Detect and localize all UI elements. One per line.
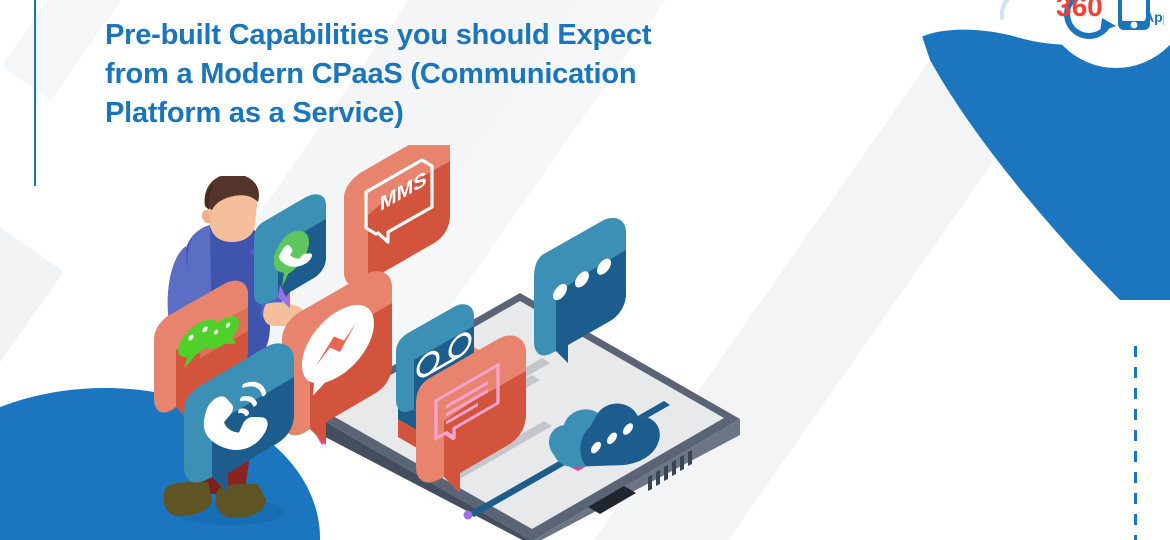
- headline-line-1: Pre-built Capabilities you should Expect: [105, 16, 825, 55]
- headline-line-2: from a Modern CPaaS (Communication: [105, 55, 825, 94]
- brand-logo[interactable]: 360 App: [994, 0, 1164, 40]
- svg-text:App: App: [1144, 9, 1164, 25]
- isometric-cpaas-illustration: MMS: [150, 145, 810, 540]
- page-title: Pre-built Capabilities you should Expect…: [105, 16, 825, 133]
- banner-canvas: Pre-built Capabilities you should Expect…: [0, 0, 1170, 540]
- headline-line-3: Platform as a Service): [105, 94, 825, 133]
- top-right-blue-wave: [920, 0, 1170, 300]
- bubble-whatsapp: [254, 194, 326, 308]
- bubble-mms: MMS: [344, 145, 450, 293]
- diagonal-stripe: [0, 0, 38, 453]
- svg-text:360: 360: [1056, 0, 1103, 22]
- left-accent-line: [34, 0, 36, 186]
- right-dashed-line: [1134, 346, 1137, 540]
